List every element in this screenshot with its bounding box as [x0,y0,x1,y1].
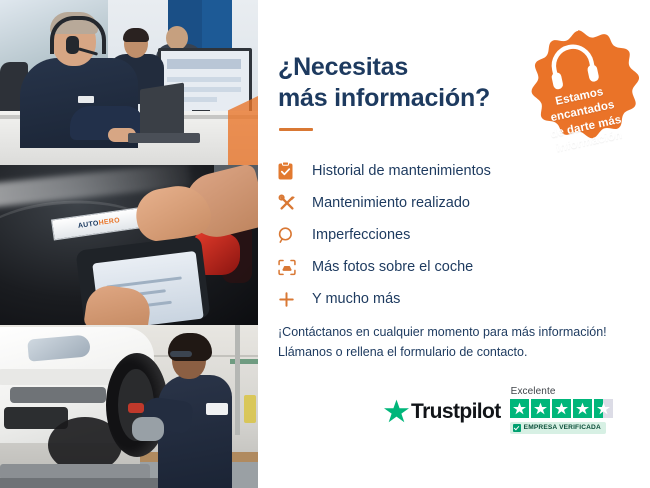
trustpilot-star-icon [384,399,409,423]
plus-icon [278,291,304,308]
photo-collage: AUTOHERO [0,0,258,488]
contact-paragraph-line1: ¡Contáctanos en cualquier momento para m… [278,322,630,342]
car-grille-upper [10,387,106,403]
trustpilot-stars [510,399,613,418]
contact-paragraph-line2: Llámanos o rellena el formulario de cont… [278,342,630,362]
photo-vehicle-inspection: AUTOHERO [0,165,258,325]
support-badge: Estamos encantados de darte más informac… [517,29,639,151]
title-underline-rule [279,128,313,131]
trustpilot-wordmark: Trustpilot [411,401,501,422]
star-filled [552,399,571,418]
contact-paragraph: ¡Contáctanos en cualquier momento para m… [278,322,630,363]
page-title: ¿Necesitas más información? [278,52,490,113]
verified-company-label: EMPRESA VERIFICADA [524,425,601,432]
feature-item-historial: Historial de mantenimientos [278,155,578,187]
star-filled [510,399,529,418]
content-panel: ¿Necesitas más información? Estamos enca… [258,0,650,488]
mechanic-uniform-badge [206,403,228,415]
ruler-brand-text: AUTOHERO [78,217,121,230]
car-scan-icon [278,259,304,276]
feature-item-imperfecciones: Imperfecciones [278,219,578,251]
star-filled [531,399,550,418]
verified-company-badge: EMPRESA VERIFICADA [510,422,606,434]
car-lift-base [0,478,160,488]
workshop-pole [235,325,240,435]
trustpilot-logo: Trustpilot [384,399,501,423]
mechanic-tool [128,403,144,413]
trustpilot-rating-word: Excelente [511,386,556,397]
page-title-line2: más información? [278,84,490,112]
info-banner: AUTOHERO [0,0,650,488]
mechanic-safety-glasses [170,351,192,357]
feature-item-fotos: Más fotos sobre el coche [278,251,578,283]
verified-check-icon [513,424,521,432]
laptop-base [128,133,200,143]
workshop-bottle [244,395,256,423]
star-half [594,399,613,418]
feature-label: Más fotos sobre el coche [304,260,473,275]
photo-call-center-agent [0,0,258,165]
colleague-hair [123,28,149,42]
support-badge-content: Estamos encantados de darte más informac… [506,18,650,163]
trustpilot-score-block: Excelente [510,386,613,434]
page-title-line1: ¿Necesitas [278,53,408,81]
agent-headset-earcup [66,36,79,54]
feature-label: Mantenimiento realizado [304,196,470,211]
feature-label: Imperfecciones [304,228,410,243]
trustpilot-rating[interactable]: Trustpilot Excelente [384,386,630,434]
wrench-screwdriver-icon [278,194,304,212]
feature-item-mucho-mas: Y mucho más [278,283,578,315]
feature-label: Historial de mantenimientos [304,164,491,179]
monitor-row [167,77,241,82]
background-colleague-head [166,26,188,50]
star-filled [573,399,592,418]
photo-mechanic-wheel-check [0,325,258,488]
clipboard-check-icon [278,162,304,180]
mechanic-glove [132,417,164,441]
feature-item-mantenimiento: Mantenimiento realizado [278,187,578,219]
magnifier-icon [278,227,304,244]
monitor-toolbar [167,59,241,69]
feature-list: Historial de mantenimientos Mantenimient… [278,155,578,315]
feature-label: Y mucho más [304,292,400,307]
agent-name-badge [78,96,94,103]
